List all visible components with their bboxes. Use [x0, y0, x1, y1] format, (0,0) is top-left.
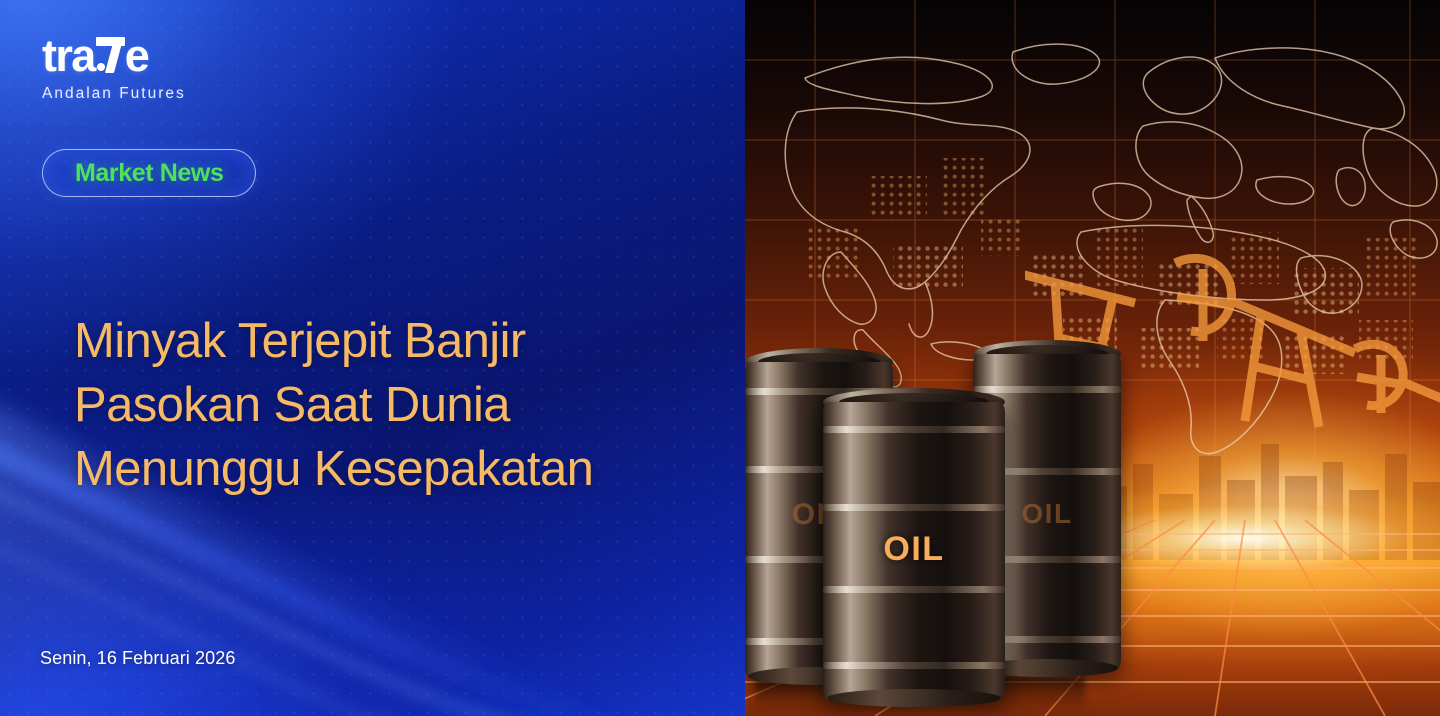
barrel-rib — [823, 504, 1005, 511]
barrel-rib — [823, 426, 1005, 433]
headline-line-2: Pasokan Saat Dunia — [74, 373, 674, 437]
barrel-oil-label: OIL — [823, 530, 1005, 569]
headline-line-1: Minyak Terjepit Banjir — [74, 309, 674, 373]
logo-text-part-one: tra — [42, 33, 95, 78]
barrel-rib — [823, 662, 1005, 669]
market-news-badge[interactable]: Market News — [42, 149, 256, 197]
oil-hero-image-panel: OIL OIL OIL — [745, 0, 1440, 716]
logo-tagline: Andalan Futures — [42, 85, 186, 103]
oil-barrel-front: OIL — [823, 388, 1005, 700]
logo-z-mark-icon — [96, 37, 125, 71]
publish-date: Senin, 16 Februari 2026 — [40, 648, 235, 669]
logo-text-part-two: e — [125, 33, 148, 78]
barrel-base — [827, 689, 1002, 707]
market-news-badge-label: Market News — [75, 159, 223, 188]
logo-wordmark: tra e — [42, 33, 186, 78]
brand-logo[interactable]: tra e Andalan Futures — [42, 33, 186, 103]
left-content-panel: tra e Andalan Futures Market News Minyak… — [0, 0, 745, 716]
market-news-banner: tra e Andalan Futures Market News Minyak… — [0, 0, 1440, 716]
headline: Minyak Terjepit Banjir Pasokan Saat Duni… — [74, 309, 674, 501]
headline-line-3: Menunggu Kesepakatan — [74, 437, 674, 501]
barrel-rib — [823, 586, 1005, 593]
oil-barrels-group: OIL OIL OIL — [745, 330, 1105, 716]
